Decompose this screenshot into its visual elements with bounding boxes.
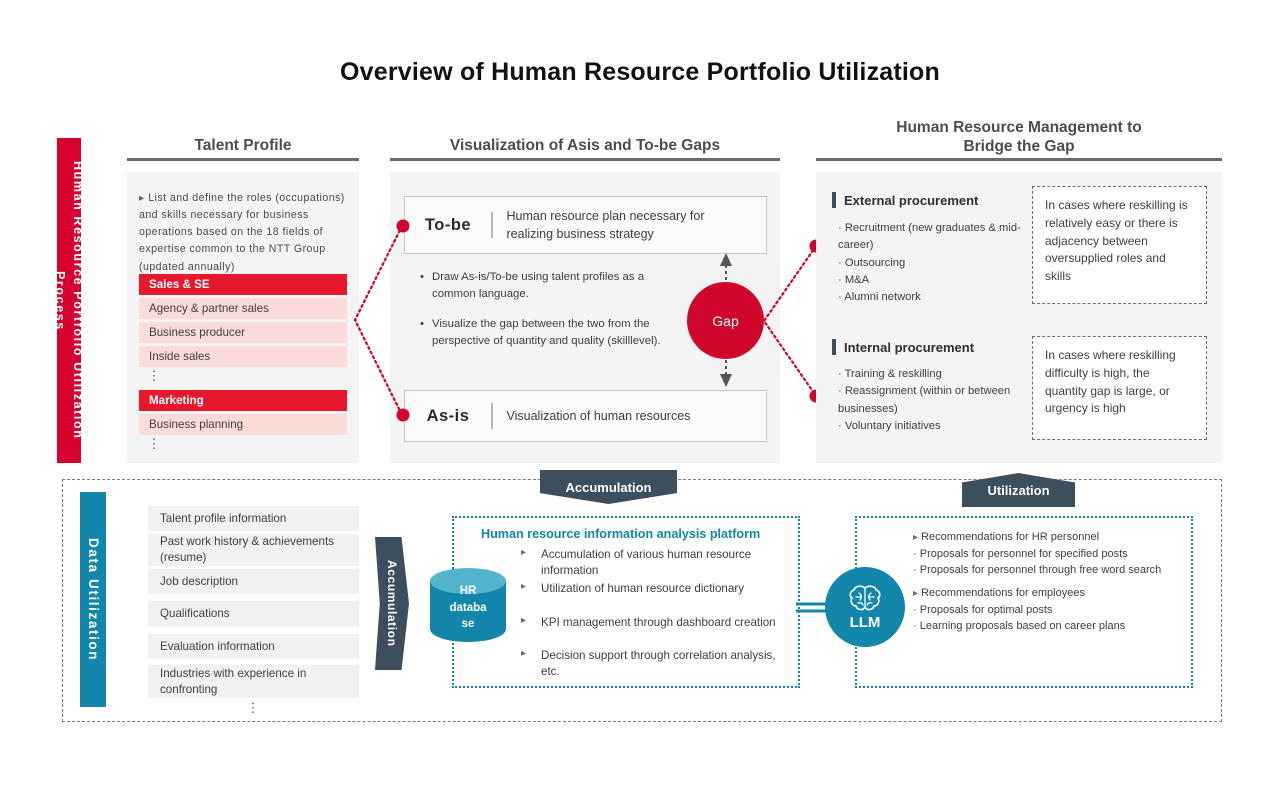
external-procurement-list: · Recruitment (new graduates & mid‐caree… bbox=[838, 220, 1043, 307]
info-row: Past work history & achievements (resume… bbox=[148, 534, 359, 566]
talent-profile-panel: ▸ List and define the roles (occupations… bbox=[127, 172, 359, 463]
procurement-item: · Alumni network bbox=[838, 289, 1043, 306]
talent-role-item: Business producer bbox=[139, 322, 347, 343]
procurement-item: · Recruitment (new graduates & mid‐caree… bbox=[838, 220, 1043, 255]
gap-circle: Gap bbox=[687, 282, 764, 359]
platform-item: ▸ Accumulation of various human resource… bbox=[521, 547, 791, 579]
external-procurement-title: External procurement bbox=[844, 193, 978, 208]
talent-profile-description: ▸ List and define the roles (occupations… bbox=[139, 190, 347, 276]
external-note-text: In cases where reskilling is relatively … bbox=[1045, 197, 1194, 286]
platform-title: Human resource information analysis plat… bbox=[481, 527, 791, 541]
header-rule-gaps bbox=[390, 158, 780, 161]
gap-bullet: •Draw As‐is/To‐be using talent profiles … bbox=[420, 269, 682, 303]
info-row: Industries with experience in confrontin… bbox=[148, 665, 359, 698]
hr-database-label: HR databa se bbox=[428, 583, 508, 633]
info-row: Talent profile information bbox=[148, 506, 359, 531]
llm-circle: LLM bbox=[825, 567, 905, 647]
llm-item: · Learning proposals based on career pla… bbox=[913, 618, 1185, 635]
talent-role-item: Business planning bbox=[139, 414, 347, 435]
procurement-item: · Training & reskilling bbox=[838, 366, 1043, 383]
accent-bar-icon bbox=[832, 339, 836, 355]
talent-group-more: ⋮ bbox=[139, 369, 169, 382]
llm-item: · Proposals for optimal posts bbox=[913, 602, 1185, 619]
connector-talent-to-gaps bbox=[345, 215, 415, 430]
as-is-label: As‐is bbox=[405, 407, 491, 426]
header-rule-talent bbox=[127, 158, 359, 161]
diagram-canvas: Overview of Human Resource Portfolio Uti… bbox=[0, 0, 1280, 788]
management-header-line1: Human Resource Management to bbox=[816, 118, 1222, 137]
column-header-management: Human Resource Management to Bridge the … bbox=[816, 118, 1222, 157]
internal-note-text: In cases where reskilling difficulty is … bbox=[1045, 347, 1194, 418]
to-be-text: Human resource plan necessary for realiz… bbox=[507, 207, 747, 243]
procurement-item: · Outsourcing bbox=[838, 255, 1043, 272]
divider bbox=[491, 212, 493, 238]
accent-bar-icon bbox=[832, 192, 836, 208]
header-rule-management bbox=[816, 158, 1222, 161]
external-procurement-note: In cases where reskilling is relatively … bbox=[1032, 186, 1207, 304]
gap-bullet-text: Visualize the gap between the two from t… bbox=[432, 316, 672, 350]
llm-item: · Proposals for personnel for specified … bbox=[913, 546, 1185, 563]
llm-group-head: ▸ Recommendations for HR personnel bbox=[913, 529, 1185, 546]
internal-procurement-note: In cases where reskilling difficulty is … bbox=[1032, 336, 1207, 440]
brain-icon bbox=[848, 585, 882, 613]
as-is-text: Visualization of human resources bbox=[507, 407, 747, 425]
internal-procurement-head: Internal procurement bbox=[832, 339, 974, 355]
process-band-label: Human Resource Portfolio Utilization Pro… bbox=[57, 138, 81, 463]
talent-group-head: Marketing bbox=[139, 390, 347, 411]
as-is-box: As‐is Visualization of human resources bbox=[404, 390, 767, 442]
data-utilization-band-label: Data Utilization bbox=[80, 492, 106, 707]
platform-item: ▸ Utilization of human resource dictiona… bbox=[521, 581, 791, 597]
llm-label: LLM bbox=[850, 614, 881, 631]
gap-bullet-text: Draw As‐is/To‐be using talent profiles a… bbox=[432, 269, 672, 303]
info-rows-more: ⋮ bbox=[238, 701, 268, 714]
talent-role-item: Inside sales bbox=[139, 346, 347, 367]
info-row: Qualifications bbox=[148, 601, 359, 627]
to-be-box: To‐be Human resource plan necessary for … bbox=[404, 196, 767, 254]
procurement-item: · Voluntary initiatives bbox=[838, 418, 1043, 435]
talent-role-item: Agency & partner sales bbox=[139, 298, 347, 319]
page-title: Overview of Human Resource Portfolio Uti… bbox=[0, 58, 1280, 87]
management-header-line2: Bridge the Gap bbox=[816, 137, 1222, 156]
internal-procurement-list: · Training & reskilling · Reassignment (… bbox=[838, 366, 1043, 435]
platform-item: ▸ KPI management through dashboard creat… bbox=[521, 615, 793, 631]
gap-bullet: •Visualize the gap between the two from … bbox=[420, 316, 682, 350]
info-row: Evaluation information bbox=[148, 634, 359, 659]
llm-group-1: ▸ Recommendations for HR personnel · Pro… bbox=[913, 529, 1185, 579]
info-row: Job description bbox=[148, 569, 359, 594]
internal-procurement-title: Internal procurement bbox=[844, 340, 974, 355]
column-header-gaps: Visualization of Asis and To-be Gaps bbox=[390, 136, 780, 155]
llm-group-head: ▸ Recommendations for employees bbox=[913, 585, 1185, 602]
procurement-item: · Reassignment (within or between busine… bbox=[838, 383, 1043, 418]
column-header-talent-profile: Talent Profile bbox=[127, 136, 359, 155]
llm-group-2: ▸ Recommendations for employees · Propos… bbox=[913, 585, 1185, 635]
talent-group-head: Sales & SE bbox=[139, 274, 347, 295]
to-be-label: To‐be bbox=[405, 216, 491, 235]
procurement-item: · M&A bbox=[838, 272, 1043, 289]
talent-group-more: ⋮ bbox=[139, 437, 169, 450]
platform-item: ▸ Decision support through correlation a… bbox=[521, 648, 793, 680]
divider bbox=[491, 403, 493, 429]
talent-profile-description-text: List and define the roles (occupations) … bbox=[139, 192, 345, 273]
external-procurement-head: External procurement bbox=[832, 192, 978, 208]
llm-item: · Proposals for personnel through free w… bbox=[913, 562, 1185, 579]
